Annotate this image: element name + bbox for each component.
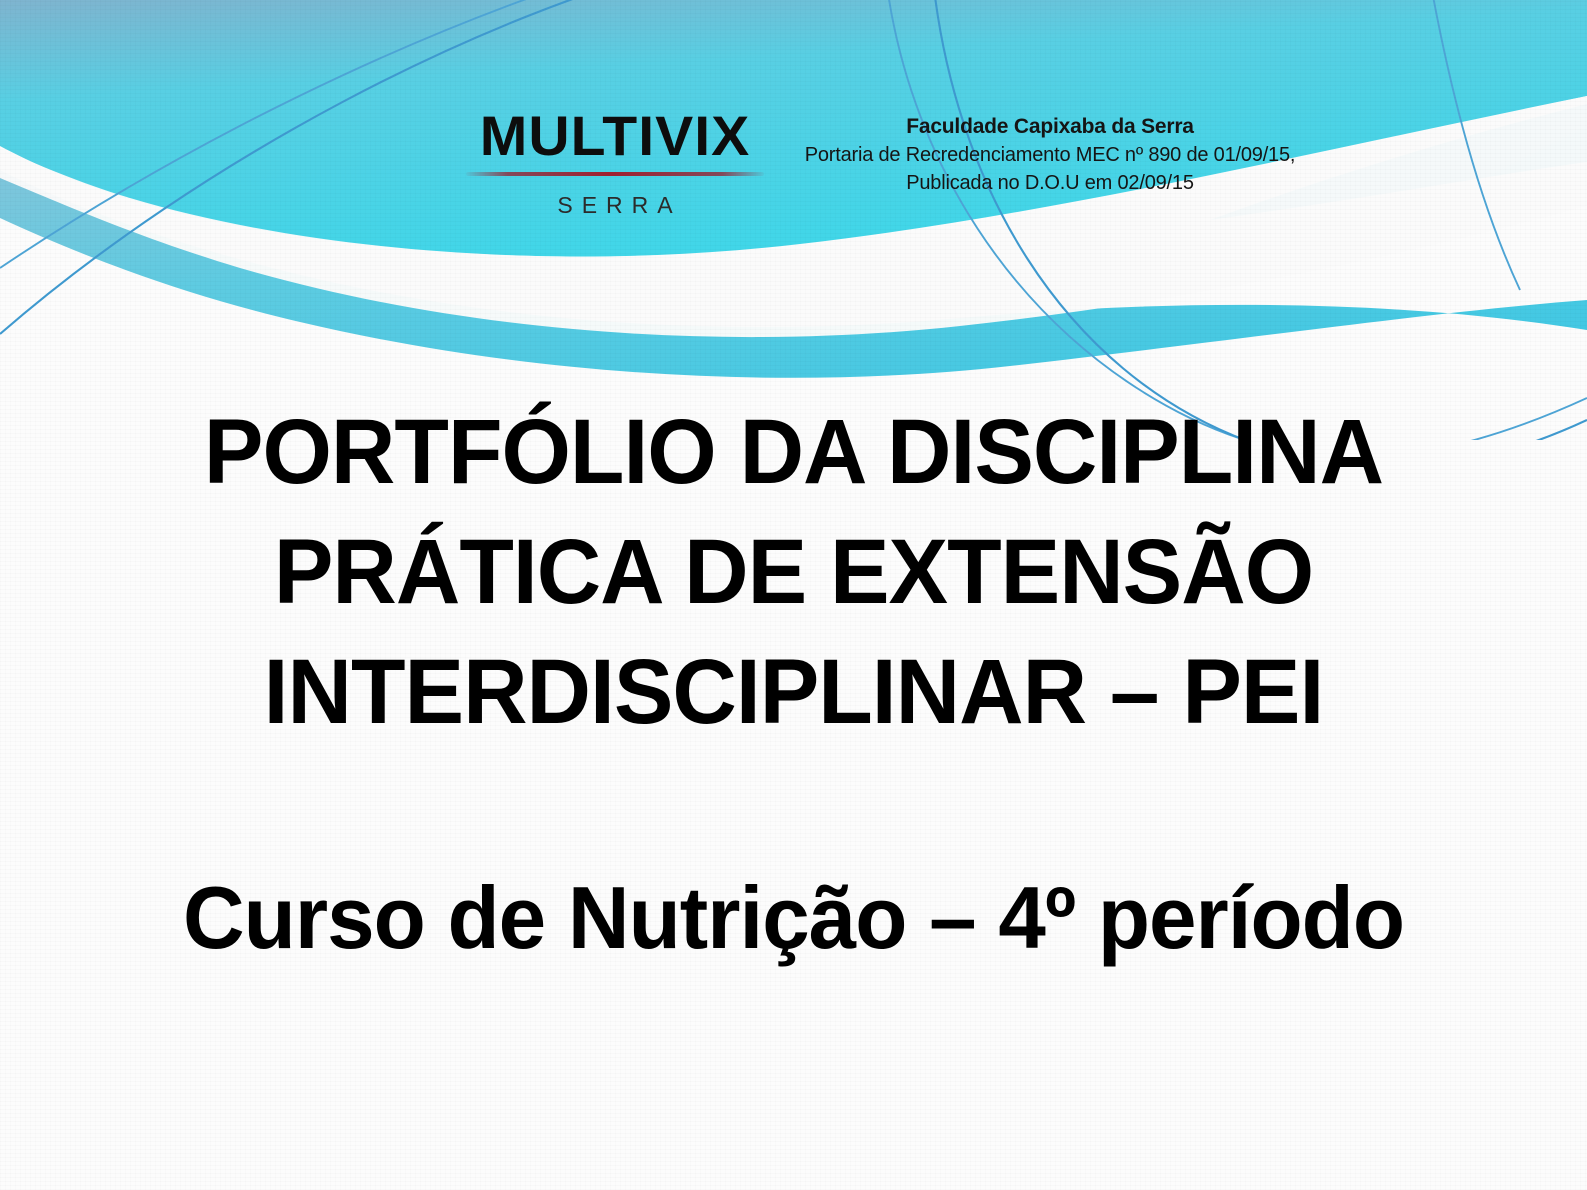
presentation-slide: MULTIVIX SERRA Faculdade Capixaba da Ser… — [0, 0, 1587, 1190]
logo-red-rule — [466, 172, 764, 176]
title-line-2: PRÁTICA DE EXTENSÃO — [24, 512, 1563, 632]
logo-campus-label: SERRA — [455, 192, 775, 219]
title-line-1: PORTFÓLIO DA DISCIPLINA — [24, 392, 1563, 512]
slide-title: PORTFÓLIO DA DISCIPLINA PRÁTICA DE EXTEN… — [0, 392, 1587, 752]
accreditation-line-2: Publicada no D.O.U em 02/09/15 — [800, 169, 1300, 197]
accreditation-line-1: Portaria de Recredenciamento MEC nº 890 … — [800, 141, 1300, 169]
logo-wordmark: MULTIVIX — [452, 108, 778, 164]
header-decoration — [0, 0, 1587, 440]
slide-subtitle: Curso de Nutrição – 4º período — [0, 862, 1587, 974]
subtitle-line-1: Curso de Nutrição – 4º período — [24, 862, 1563, 974]
multivix-logo: MULTIVIX SERRA — [455, 108, 775, 219]
institution-name: Faculdade Capixaba da Serra — [800, 113, 1300, 141]
title-line-3: INTERDISCIPLINAR – PEI — [24, 632, 1563, 752]
accreditation-block: Faculdade Capixaba da Serra Portaria de … — [800, 113, 1300, 198]
